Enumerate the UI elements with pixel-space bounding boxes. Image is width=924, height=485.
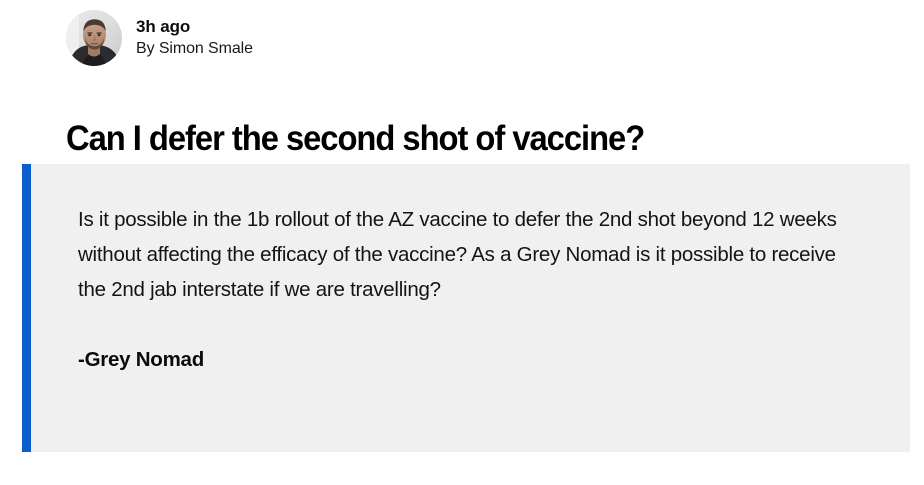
pullquote-attribution: -Grey Nomad [78, 342, 866, 377]
byline-text: 3h ago By Simon Smale [136, 17, 253, 59]
timestamp: 3h ago [136, 17, 253, 37]
pullquote-body: Is it possible in the 1b rollout of the … [31, 164, 910, 452]
article-page: 3h ago By Simon Smale Can I defer the se… [0, 0, 924, 485]
author-portrait-photo-icon [66, 10, 122, 66]
author-name: By Simon Smale [136, 40, 253, 59]
pullquote: Is it possible in the 1b rollout of the … [22, 164, 910, 452]
page-title: Can I defer the second shot of vaccine? [66, 119, 814, 158]
byline: 3h ago By Simon Smale [66, 10, 253, 66]
pullquote-accent-bar [22, 164, 31, 452]
pullquote-text: Is it possible in the 1b rollout of the … [78, 202, 866, 307]
avatar [66, 10, 122, 66]
